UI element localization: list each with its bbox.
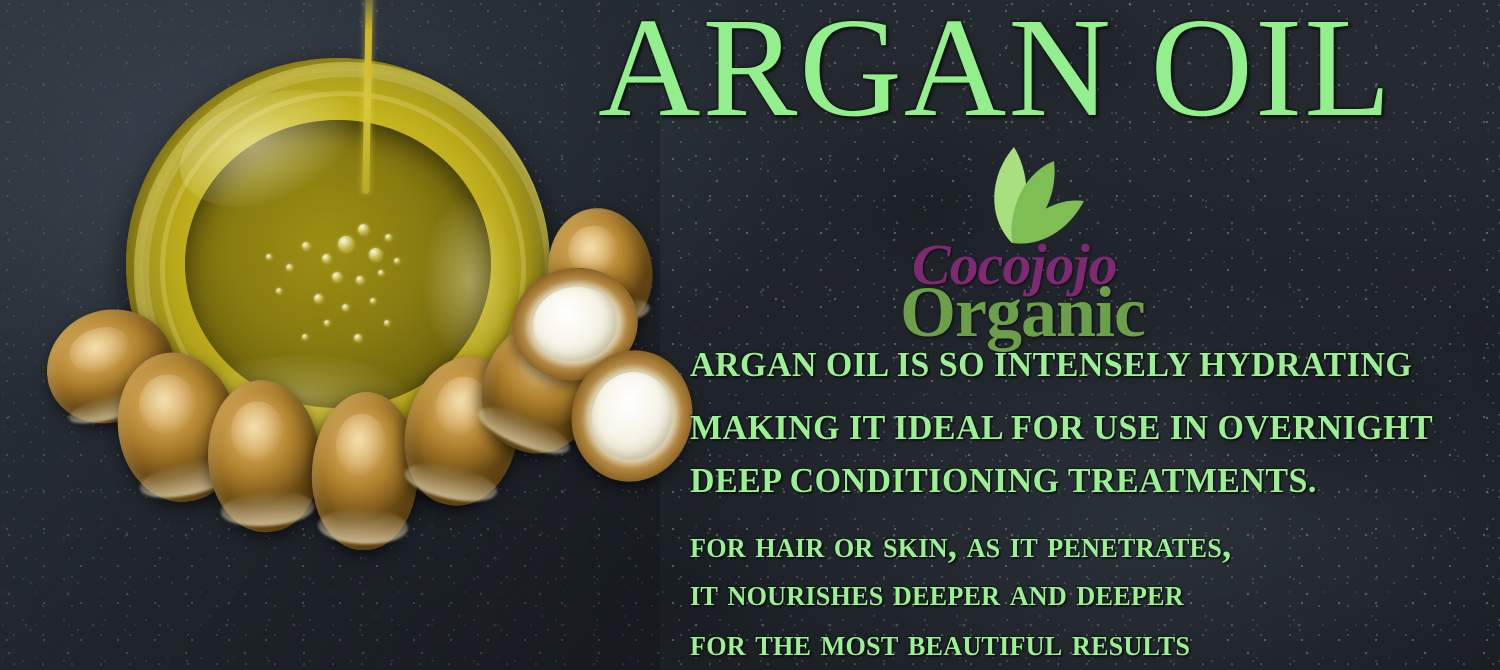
page-title: ARGAN OIL bbox=[598, 0, 1498, 142]
marketing-copy: ARGAN OIL IS SO INTENSELY HYDRATING MAKI… bbox=[690, 338, 1500, 667]
nut-highlight bbox=[134, 369, 203, 440]
copy-line: For hair or skin, as it penetrates, bbox=[690, 521, 1476, 569]
product-photo bbox=[0, 0, 700, 670]
nut-highlight bbox=[335, 413, 388, 478]
copy-line: ARGAN OIL IS SO INTENSELY HYDRATING bbox=[690, 338, 1476, 391]
nut-highlight bbox=[229, 400, 287, 464]
copy-line: MAKING IT IDEAL FOR USE IN OVERNIGHT bbox=[690, 401, 1476, 454]
argan-kernel bbox=[583, 364, 681, 468]
copy-line: for the most beautiful results bbox=[690, 619, 1476, 667]
brand-logo: Cocojojo Organic bbox=[900, 143, 1200, 333]
argan-oil-product-banner: ARGAN OIL Cocojojo Organic ARGAN OIL IS … bbox=[0, 0, 1500, 670]
copy-line: it nourishes deeper and deeper bbox=[690, 569, 1476, 617]
copy-line: DEEP CONDITIONING TREATMENTS. bbox=[690, 454, 1476, 507]
nut-highlight bbox=[64, 320, 135, 380]
argan-kernel bbox=[528, 280, 623, 367]
